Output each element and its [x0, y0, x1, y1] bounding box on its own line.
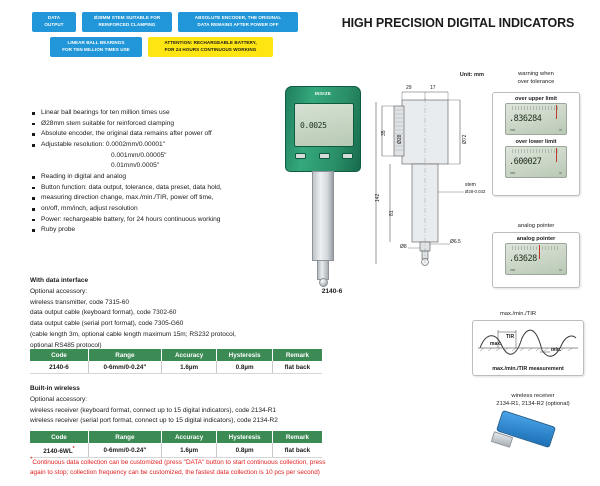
lcd-unit-left: mm [510, 171, 515, 175]
feature-item: Reading in digital and analog [30, 172, 292, 183]
feature-item-cont: on/off, mm/inch, adjust resolution [30, 204, 292, 215]
column-header-code: Code [30, 349, 88, 361]
feature-subitem: 0.01mm/0.0005" [30, 161, 292, 172]
wireless-heading: Built-in wireless [30, 384, 320, 395]
dim-17: 17 [430, 85, 436, 91]
lcd-analog-pointer: .63628 mm in [505, 243, 567, 275]
table-header-row: Code Range Accuracy Hysteresis Remark [30, 349, 322, 361]
feature-list: Linear ball bearings for ten million tim… [30, 108, 292, 236]
table-header-row: Code Range Accuracy Hysteresis Remark [30, 431, 322, 443]
data-interface-line: wireless transmitter, code 7315-60 [30, 298, 320, 309]
device-button[interactable] [342, 153, 353, 159]
column-header-remark: Remark [272, 431, 322, 443]
wireless-optional: Optional accessory: [30, 395, 320, 406]
badge-ball-bearings: LINEAR BALL BEARINGSFOR TEN MILLION TIME… [50, 37, 142, 57]
feature-item: Adjustable resolution: 0.0002mm/0.00001" [30, 140, 292, 151]
feature-item: Linear ball bearings for ten million tim… [30, 108, 292, 119]
footnote: *Continuous data collection can be custo… [30, 456, 430, 478]
lcd-upper-value: .836284 [509, 114, 541, 124]
over-upper-limit-label: over upper limit [493, 96, 579, 102]
tir-label-min: min. [551, 347, 561, 353]
ruby-probe-icon [319, 278, 328, 287]
footnote-text-1: Continuous data collection can be custom… [32, 459, 325, 466]
dim-dia-72: Ø72 [462, 135, 468, 144]
analog-panel-caption: analog pointer [476, 222, 596, 230]
cell-hysteresis: 0.8µm [217, 361, 272, 374]
feature-subitem: 0.001mm/0.00005" [30, 151, 292, 162]
badge-row-1: DATAOUTPUT Ø28MM STEM SUITABLE FORREINFO… [32, 12, 322, 32]
dim-81: 81 [389, 210, 395, 216]
feature-badges: DATAOUTPUT Ø28MM STEM SUITABLE FORREINFO… [32, 12, 322, 62]
tir-panel: max. TIR min. max./min./TIR measurement [472, 320, 584, 376]
data-interface-line: data output cable (serial port format), … [30, 319, 320, 330]
wireless-block: Built-in wireless Optional accessory: wi… [30, 384, 320, 427]
usb-receiver-image [492, 412, 562, 462]
drawing-svg [372, 72, 488, 272]
indicator-stem [312, 171, 334, 261]
badge-data-output: DATAOUTPUT [32, 12, 76, 32]
dim-29: 29 [406, 85, 412, 91]
cell-code: 2140-6 [30, 361, 88, 374]
footnote-line-1: *Continuous data collection can be custo… [30, 456, 430, 468]
device-button[interactable] [319, 153, 330, 159]
tolerance-panel-caption: warning when over tolerance [476, 70, 596, 86]
tolerance-panel: over upper limit .836284 mm in over lowe… [492, 92, 580, 196]
lcd-unit-right: in [560, 268, 562, 272]
badge-absolute-encoder: ABSOLUTE ENCODER, THE ORIGINALDATA REMAI… [178, 12, 298, 32]
brand-label: INSIZE [286, 91, 360, 96]
lcd-unit-right: in [560, 171, 562, 175]
analog-pointer-icon [539, 245, 540, 259]
column-header-accuracy: Accuracy [161, 349, 216, 361]
data-interface-line: (cable length 3m, optional cable length … [30, 330, 320, 341]
dim-dia-65: Ø6.5 [450, 239, 461, 245]
dim-142: 142 [375, 194, 381, 202]
data-interface-table: Code Range Accuracy Hysteresis Remark 21… [30, 349, 322, 374]
cell-code-text: 2140-6WL [43, 448, 72, 455]
feature-item: Absolute encoder, the original data rema… [30, 129, 292, 140]
limit-marker-icon [556, 105, 557, 119]
dim-dia-8: Ø8 [400, 244, 407, 250]
analog-pointer-label: analog pointer [493, 236, 579, 242]
lcd-unit-left: mm [510, 268, 515, 272]
dim-dia-28-top: Ø28 [397, 135, 403, 144]
button-row [295, 153, 353, 159]
indicator-reading: 0.0025 [300, 121, 327, 130]
lcd-unit-right: in [560, 128, 562, 132]
dim-stem-dia: Ø28-0.033 [465, 189, 485, 194]
footnote-line-2: again to stop; collection frequency can … [30, 468, 430, 478]
tir-footer-label: max./min./TIR measurement [476, 366, 580, 372]
wireless-line: wireless receiver (serial port format, c… [30, 416, 320, 427]
product-spec-page: DATAOUTPUT Ø28MM STEM SUITABLE FORREINFO… [0, 0, 600, 486]
lcd-over-upper: .836284 mm in [505, 103, 567, 135]
receiver-caption: wireless receiver 2134-R1, 2134-R2 (opti… [470, 392, 596, 408]
badge-attention-battery: ATTENTION: RECHARGEABLE BATTERY,FOR 24 H… [148, 37, 273, 57]
lcd-bargraph-icon [512, 106, 560, 110]
tir-panel-caption: max./min./TIR [458, 310, 578, 318]
lcd-unit-left: mm [510, 128, 515, 132]
technical-drawing: Unit: mm [372, 72, 488, 272]
feature-item-cont: measuring direction change, max./min./TI… [30, 193, 292, 204]
lcd-bargraph-icon [512, 246, 560, 250]
cell-range: 0-6mm/0-0.24" [88, 361, 161, 374]
product-code-label: 2140-6 [272, 288, 392, 295]
table-row: 2140-6 0-6mm/0-0.24" 1.6µm 0.8µm flat ba… [30, 361, 322, 374]
column-header-range: Range [88, 349, 161, 361]
column-header-remark: Remark [272, 349, 322, 361]
device-button[interactable] [295, 153, 306, 159]
over-lower-limit-label: over lower limit [493, 139, 579, 145]
column-header-hysteresis: Hysteresis [217, 431, 272, 443]
feature-item: Ø28mm stem suitable for reinforced clamp… [30, 119, 292, 130]
limit-marker-icon [556, 148, 557, 162]
analog-panel: analog pointer .63628 mm in [492, 232, 580, 288]
column-header-code: Code [30, 431, 88, 443]
tir-label-tir: TIR [506, 334, 514, 340]
badge-row-2: LINEAR BALL BEARINGSFOR TEN MILLION TIME… [32, 37, 322, 57]
feature-item: Button function: data output, tolerance,… [30, 183, 292, 194]
data-interface-line: data output cable (keyboard format), cod… [30, 308, 320, 319]
wireless-table: Code Range Accuracy Hysteresis Remark 21… [30, 431, 322, 458]
lcd-lower-value: .600027 [509, 157, 541, 167]
dim-35: 35 [381, 130, 387, 136]
feature-item: Power: rechargeable battery, for 24 hour… [30, 215, 292, 226]
column-header-range: Range [88, 431, 161, 443]
lcd-bargraph-icon [512, 149, 560, 153]
wireless-line: wireless receiver (keyboard format, conn… [30, 406, 320, 417]
label-stem: stem [465, 182, 476, 188]
column-header-hysteresis: Hysteresis [217, 349, 272, 361]
lcd-over-lower: .600027 mm in [505, 146, 567, 178]
indicator-tip [317, 260, 329, 280]
indicator-housing: INSIZE 0.0025 [285, 86, 361, 172]
cell-accuracy: 1.6µm [161, 361, 216, 374]
lcd-analog-value: .63628 [509, 254, 537, 264]
indicator-lcd: 0.0025 [294, 103, 354, 147]
tir-label-max: max. [490, 341, 501, 347]
cell-remark: flat back [272, 361, 322, 374]
feature-item: Ruby probe [30, 225, 292, 236]
column-header-accuracy: Accuracy [161, 431, 216, 443]
footnote-marker: * [73, 446, 75, 452]
badge-stem-clamping: Ø28MM STEM SUITABLE FORREINFORCED CLAMPI… [82, 12, 172, 32]
page-title: HIGH PRECISION DIGITAL INDICATORS [322, 16, 594, 30]
